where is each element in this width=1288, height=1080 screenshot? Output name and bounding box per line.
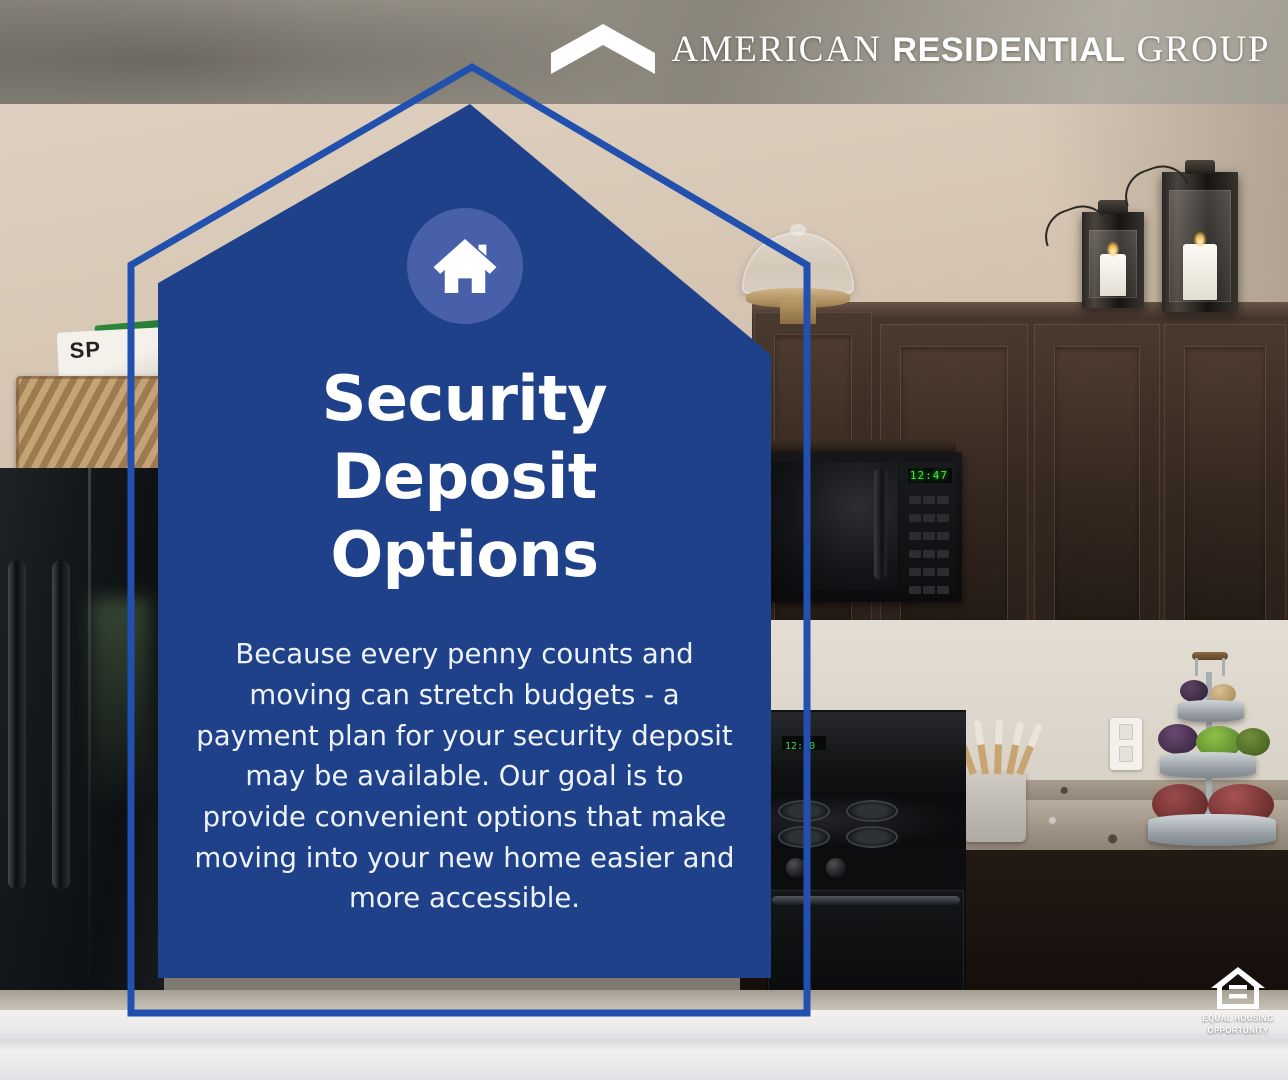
card-content: Security Deposit Options Because every p… — [158, 104, 771, 978]
roof-chevron-icon — [551, 24, 655, 74]
equal-housing-opportunity-logo: EQUAL HOUSING OPPORTUNITY — [1202, 965, 1274, 1037]
brand-logo[interactable]: AMERICAN RESIDENTIAL GROUP — [551, 24, 1270, 74]
brand-word-american: AMERICAN — [671, 29, 881, 70]
equal-housing-line-2: OPPORTUNITY — [1202, 1026, 1274, 1036]
brand-word-residential: RESIDENTIAL — [892, 31, 1125, 69]
brand-word-group: GROUP — [1137, 29, 1270, 70]
body-paragraph: Because every penny counts and moving ca… — [192, 634, 737, 919]
page-title: Security Deposit Options — [255, 360, 675, 594]
home-icon-badge — [407, 208, 523, 324]
brand-wordmark: AMERICAN RESIDENTIAL GROUP — [671, 28, 1270, 71]
equal-housing-line-1: EQUAL HOUSING — [1202, 1014, 1274, 1024]
promotional-poster: 12:47 — [0, 0, 1288, 1080]
equal-housing-house-icon — [1209, 965, 1267, 1011]
home-icon — [429, 230, 501, 302]
